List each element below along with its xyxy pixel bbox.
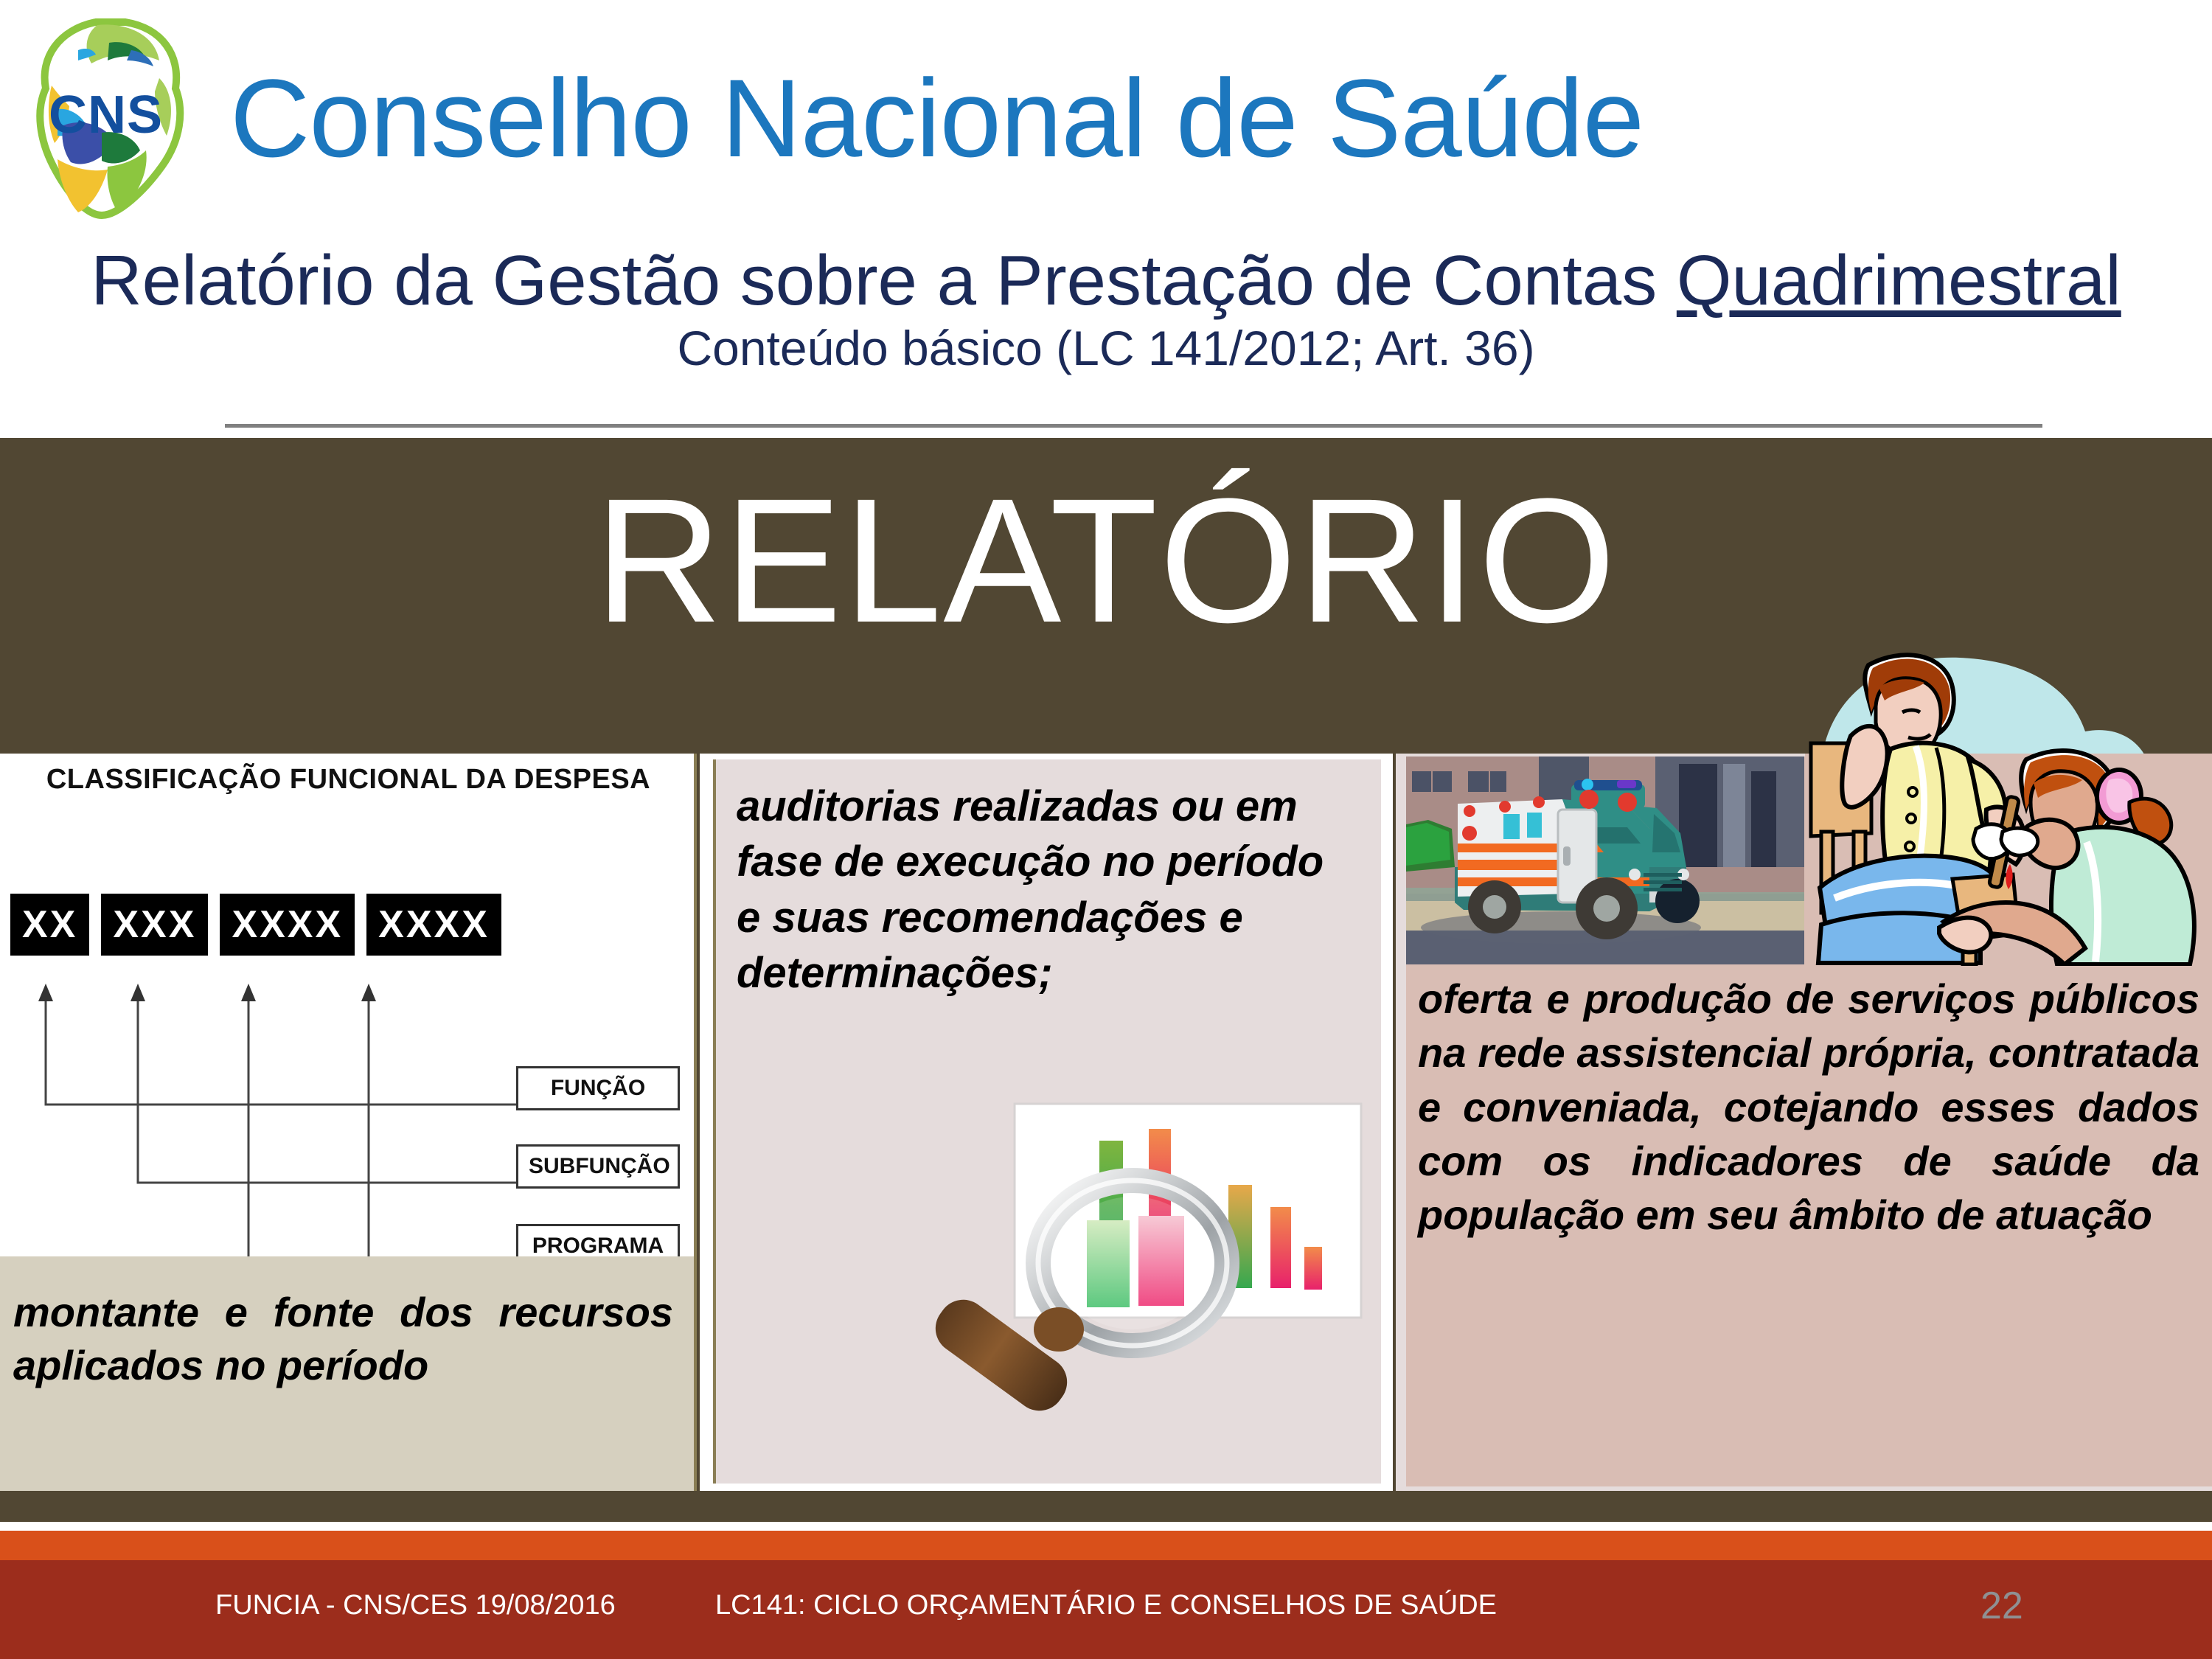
panel-audits: auditorias realizadas ou em fase de exec… bbox=[700, 754, 1393, 1491]
code-box: XXXX bbox=[220, 894, 355, 956]
audits-text: auditorias realizadas ou em fase de exec… bbox=[737, 779, 1356, 1001]
nurse-vaccination-patient-icon bbox=[1805, 636, 2212, 966]
page-number: 22 bbox=[1980, 1584, 2023, 1628]
diagram-label-subfuncao: SUBFUNÇÃO bbox=[516, 1144, 680, 1189]
magnifying-glass-bar-chart-icon bbox=[911, 1095, 1368, 1456]
left-note-text: montante e fonte dos recursos aplicados … bbox=[13, 1286, 673, 1391]
panel-classification: CLASSIFICAÇÃO FUNCIONAL DA DESPESA XX XX… bbox=[0, 754, 697, 1491]
title-plain: Relatório da Gestão sobre a Prestação de… bbox=[91, 241, 1677, 320]
svg-text:CNS: CNS bbox=[49, 86, 163, 145]
slide: CNS Conselho Nacional de Saúde Relatório… bbox=[0, 0, 2212, 1659]
services-text: oferta e produção de serviços públicos n… bbox=[1418, 972, 2199, 1242]
band-heading: RELATÓRIO bbox=[0, 472, 2212, 649]
code-box: XXX bbox=[101, 894, 208, 956]
header-divider bbox=[225, 424, 2042, 428]
footer-accent-stripe bbox=[0, 1531, 2212, 1560]
code-box: XX bbox=[10, 894, 89, 956]
title-underlined: Quadrimestral bbox=[1677, 241, 2121, 320]
cns-brazil-map-icon: CNS bbox=[15, 15, 214, 221]
code-box-row: XX XXX XXXX XXXX bbox=[10, 894, 501, 956]
title-line-1: Relatório da Gestão sobre a Prestação de… bbox=[0, 243, 2212, 319]
ambulance-icon bbox=[1406, 757, 1804, 964]
diagram-title: CLASSIFICAÇÃO FUNCIONAL DA DESPESA bbox=[0, 764, 697, 796]
footer-center-text: LC141: CICLO ORÇAMENTÁRIO E CONSELHOS DE… bbox=[0, 1590, 2212, 1621]
title-subtitle: Conteúdo básico (LC 141/2012; Art. 36) bbox=[0, 321, 2212, 375]
panel-audits-inner: auditorias realizadas ou em fase de exec… bbox=[713, 759, 1381, 1484]
org-name: Conselho Nacional de Saúde bbox=[230, 63, 1644, 173]
page-title: Relatório da Gestão sobre a Prestação de… bbox=[0, 243, 2212, 375]
left-note-box: montante e fonte dos recursos aplicados … bbox=[0, 1256, 694, 1491]
header-logo-bar: CNS Conselho Nacional de Saúde bbox=[0, 0, 2212, 236]
footer: FUNCIA - CNS/CES 19/08/2016 LC141: CICLO… bbox=[0, 1560, 2212, 1659]
diagram-label-funcao: FUNÇÃO bbox=[516, 1066, 680, 1110]
code-box: XXXX bbox=[366, 894, 501, 956]
